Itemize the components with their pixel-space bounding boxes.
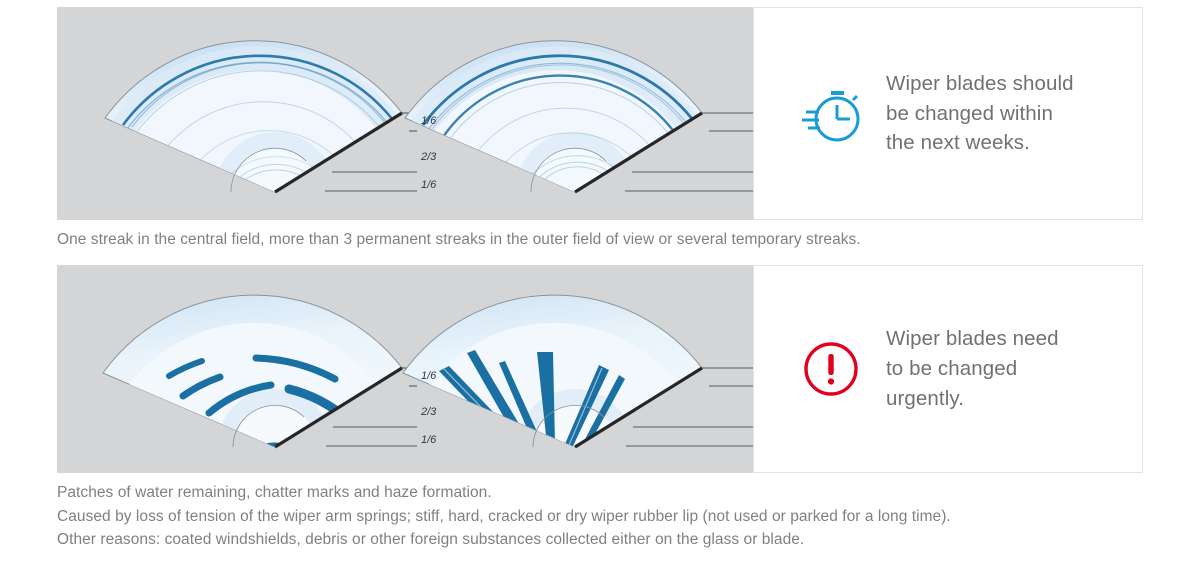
warning-exclamation-icon [798,336,864,402]
windshield-wipe-field-patches [57,265,417,473]
message-panel-moderate: Wiper blades should be changed within th… [753,7,1143,220]
message-text-moderate: Wiper blades should be changed within th… [886,69,1074,158]
windshield-wipe-field-streaks-light [57,7,417,220]
caption-severe: Patches of water remaining, chatter mark… [57,481,951,552]
fan-body [105,41,402,220]
stopwatch-icon [798,81,864,147]
message-text-severe: Wiper blades need to be changed urgently… [886,324,1059,413]
condition-row-moderate: 1/6 2/3 1/6 1/6 2/3 1/6 [57,7,1143,220]
zone-label-middle-a: 2/3 [421,151,436,163]
condition-row-severe: 1/6 2/3 1/6 1/6 2/3 1/6 Wiper blades nee… [57,265,1143,473]
figure-panel-moderate: 1/6 2/3 1/6 1/6 2/3 1/6 [57,7,753,220]
wiper-condition-chart: 1/6 2/3 1/6 1/6 2/3 1/6 [0,0,1202,573]
windshield-wipe-field-streaks-medium [397,7,753,220]
zone-label-outer-bottom-a: 1/6 [421,179,436,191]
zone-label-outer-top-c: 1/6 [421,370,436,382]
figure-panel-severe: 1/6 2/3 1/6 1/6 2/3 1/6 [57,265,753,473]
windshield-wipe-field-radial-streaks [397,265,753,473]
zone-label-outer-top-a: 1/6 [421,115,436,127]
message-panel-severe: Wiper blades need to be changed urgently… [753,265,1143,473]
zone-label-outer-bottom-c: 1/6 [421,434,436,446]
caption-moderate: One streak in the central field, more th… [57,228,861,252]
zone-label-middle-c: 2/3 [421,406,436,418]
fan-body [405,41,702,220]
